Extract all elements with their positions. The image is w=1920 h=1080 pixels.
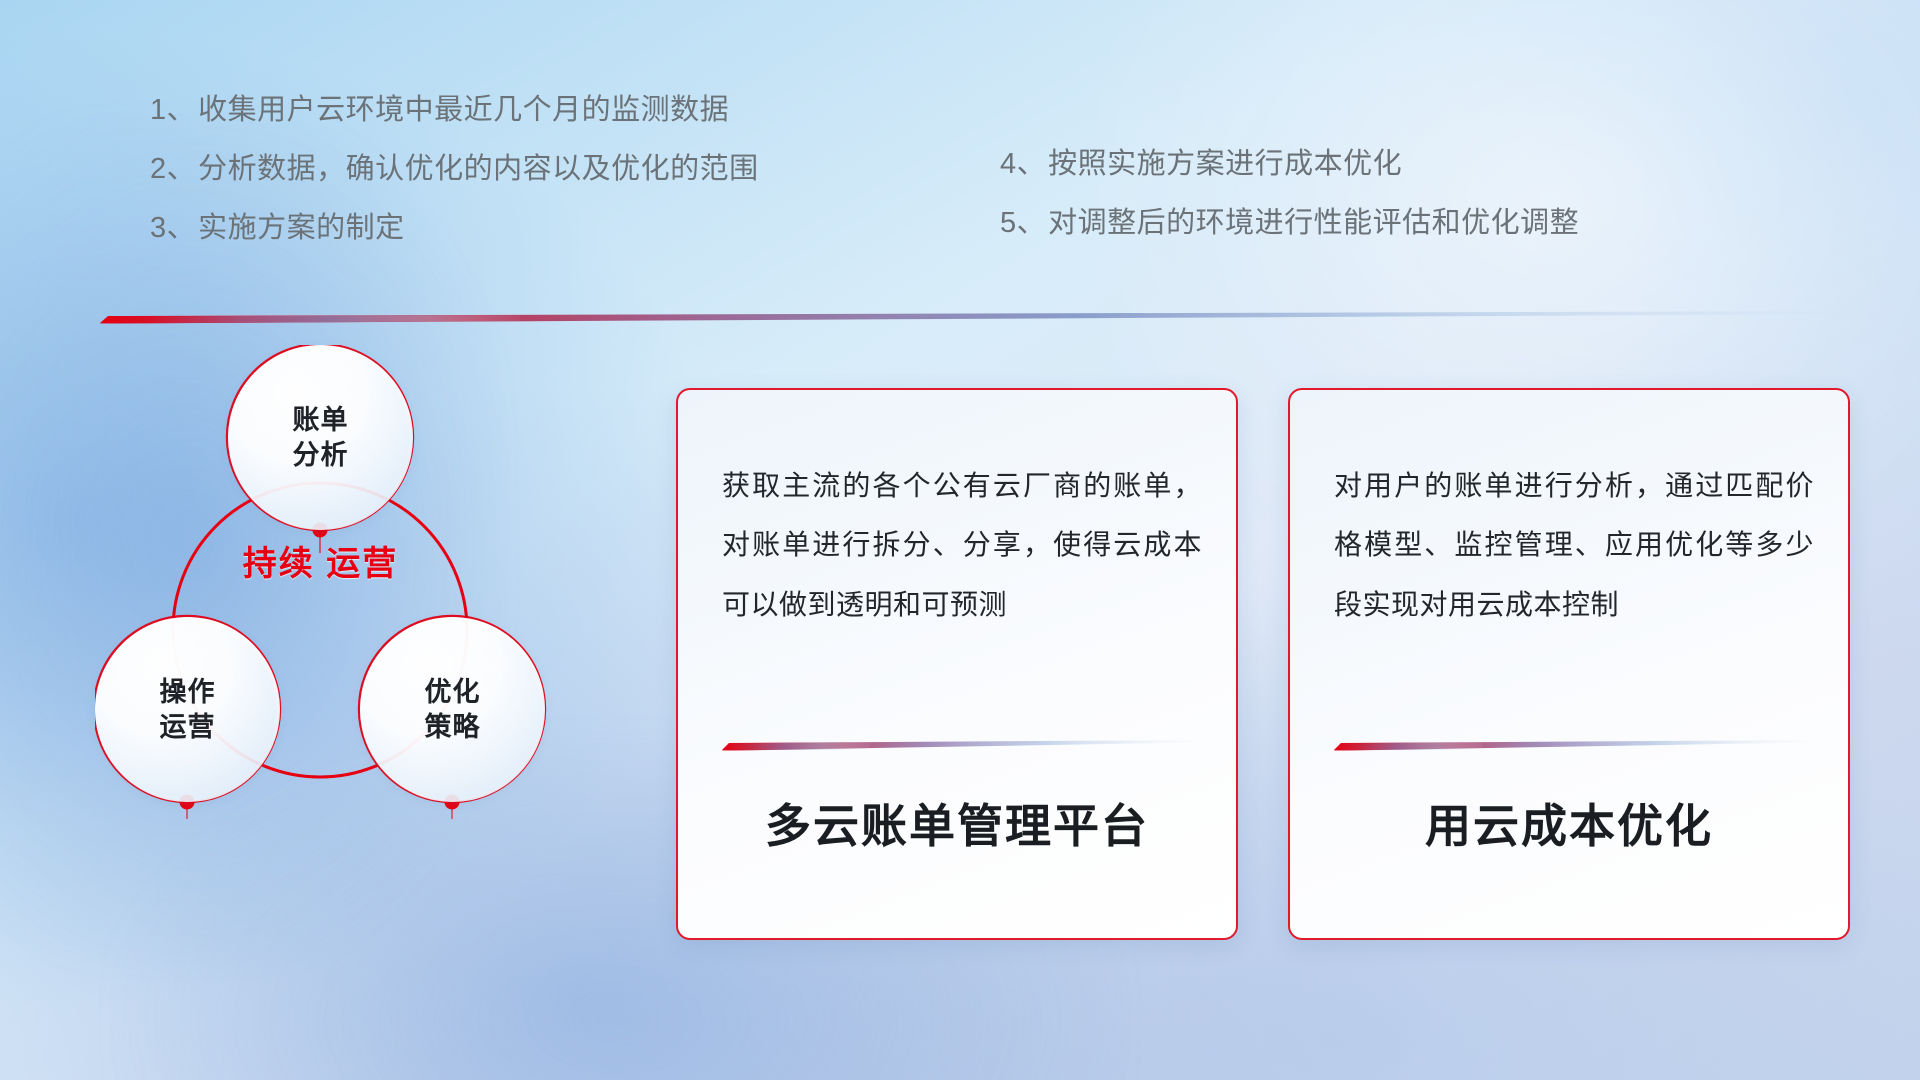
bubble-label-line2: 策略 <box>425 710 481 744</box>
section-divider <box>100 310 1870 324</box>
steps-right-column: 4、 按照实施方案进行成本优化 5、 对调整后的环境进行性能评估和优化调整 <box>1000 150 1800 268</box>
bubble-bill-analysis[interactable]: 账单 分析 <box>228 345 413 530</box>
bubble-optimization[interactable]: 优化 策略 <box>360 617 545 802</box>
step-number: 4、 <box>1000 150 1046 179</box>
bubble-label-line2: 运营 <box>160 710 216 744</box>
bubble-operations[interactable]: 操作 运营 <box>95 617 280 802</box>
continuous-operations-diagram: 账单 分析 操作 运营 优化 策略 持续 运营 <box>95 345 615 825</box>
slide-canvas: 1、 收集用户云环境中最近几个月的监测数据 2、 分析数据，确认优化的内容以及优… <box>0 0 1920 1080</box>
step-item: 1、 收集用户云环境中最近几个月的监测数据 <box>150 96 1010 125</box>
bubble-label-line1: 账单 <box>293 403 349 437</box>
step-number: 1、 <box>150 96 196 125</box>
card-divider-wedge-icon <box>1334 739 1810 751</box>
step-text: 按照实施方案进行成本优化 <box>1048 150 1402 179</box>
step-item: 3、 实施方案的制定 <box>150 214 1010 243</box>
center-label-line1: 持续 <box>243 545 315 583</box>
card-title: 多云账单管理平台 <box>678 790 1236 856</box>
card-cloud-cost-optimization[interactable]: 对用户的账单进行分析，通过匹配价格模型、监控管理、应用优化等多少段实现对用云成本… <box>1288 388 1850 940</box>
divider-wedge-icon <box>100 310 1870 324</box>
card-title: 用云成本优化 <box>1290 790 1848 856</box>
card-body-text: 获取主流的各个公有云厂商的账单，对账单进行拆分、分享，使得云成本可以做到透明和可… <box>722 456 1202 634</box>
card-divider-wedge-icon <box>722 739 1198 751</box>
step-item: 4、 按照实施方案进行成本优化 <box>1000 150 1800 179</box>
card-divider <box>1334 738 1810 750</box>
step-text: 收集用户云环境中最近几个月的监测数据 <box>198 96 729 125</box>
step-number: 2、 <box>150 155 196 184</box>
card-body-text: 对用户的账单进行分析，通过匹配价格模型、监控管理、应用优化等多少段实现对用云成本… <box>1334 456 1814 634</box>
bubble-label-line1: 操作 <box>160 675 216 709</box>
diagram-center-label: 持续 运营 <box>228 543 413 585</box>
card-multi-cloud-billing-platform[interactable]: 获取主流的各个公有云厂商的账单，对账单进行拆分、分享，使得云成本可以做到透明和可… <box>676 388 1238 940</box>
step-item: 2、 分析数据，确认优化的内容以及优化的范围 <box>150 155 1010 184</box>
bubble-label-line1: 优化 <box>425 675 481 709</box>
step-text: 对调整后的环境进行性能评估和优化调整 <box>1048 209 1579 238</box>
card-divider <box>722 738 1198 750</box>
steps-left-column: 1、 收集用户云环境中最近几个月的监测数据 2、 分析数据，确认优化的内容以及优… <box>150 96 1010 273</box>
bubble-label-line2: 分析 <box>293 438 349 472</box>
step-item: 5、 对调整后的环境进行性能评估和优化调整 <box>1000 209 1800 238</box>
center-label-line2: 运营 <box>326 545 398 583</box>
step-text: 实施方案的制定 <box>198 214 405 243</box>
step-number: 3、 <box>150 214 196 243</box>
step-text: 分析数据，确认优化的内容以及优化的范围 <box>198 155 759 184</box>
step-number: 5、 <box>1000 209 1046 238</box>
